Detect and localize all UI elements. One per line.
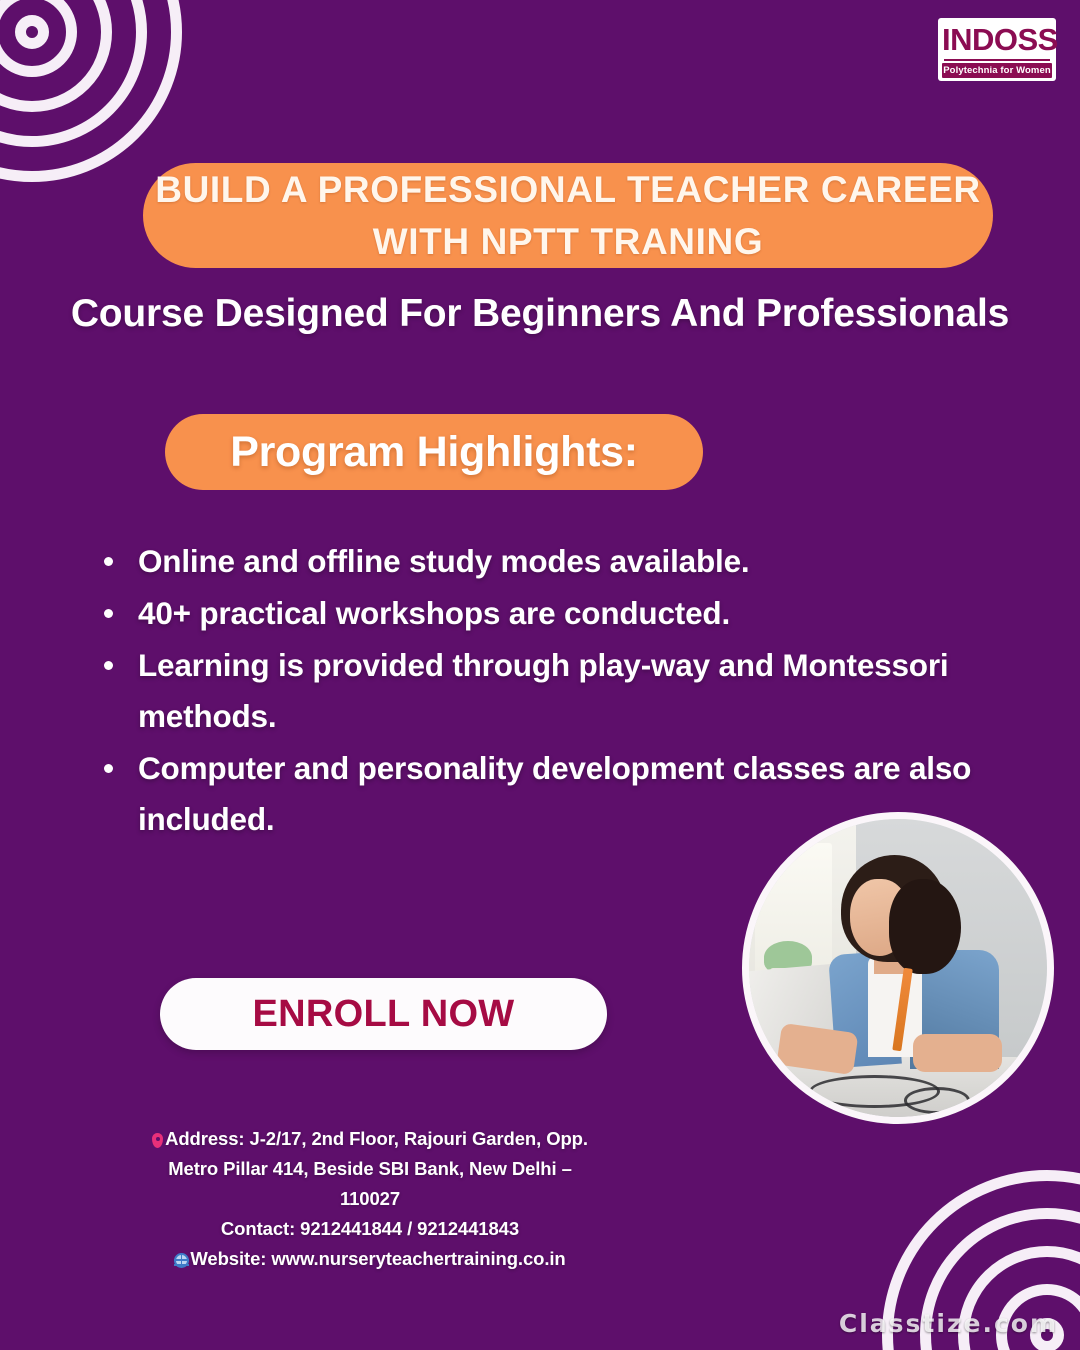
enroll-now-label: ENROLL NOW — [253, 993, 515, 1036]
headline-text: BUILD A PROFESSIONAL TEACHER CAREER WITH… — [155, 164, 980, 268]
logo-tagline: Polytechnia for Women — [942, 63, 1052, 78]
contact-footer: Address: J-2/17, 2nd Floor, Rajouri Gard… — [90, 1124, 650, 1274]
concentric-rings-top-left-icon — [0, 0, 182, 182]
brand-logo: INDOSS Polytechnia for Women — [938, 18, 1056, 81]
location-pin-icon — [152, 1133, 163, 1148]
headline-banner: BUILD A PROFESSIONAL TEACHER CAREER WITH… — [143, 163, 993, 268]
subtitle-text: Course Designed For Beginners And Profes… — [0, 292, 1080, 336]
globe-icon — [174, 1253, 189, 1268]
address-line-2: Metro Pillar 414, Beside SBI Bank, New D… — [90, 1154, 650, 1184]
logo-wordmark: INDOSS — [942, 22, 1052, 58]
photo-illustration — [749, 819, 1047, 1117]
enroll-now-button[interactable]: ENROLL NOW — [160, 978, 607, 1050]
list-item: Online and offline study modes available… — [96, 536, 1056, 587]
student-photo — [742, 812, 1054, 1124]
logo-divider — [944, 59, 1050, 61]
program-highlights-banner: Program Highlights: — [165, 414, 703, 490]
list-item: 40+ practical workshops are conducted. — [96, 588, 1056, 639]
website-url: Website: www.nurseryteachertraining.co.i… — [190, 1248, 565, 1269]
contact-phone[interactable]: Contact: 9212441844 / 9212441843 — [90, 1214, 650, 1244]
highlights-list: Online and offline study modes available… — [96, 536, 1056, 846]
address-postal-code: 110027 — [90, 1184, 650, 1214]
poster-canvas: INDOSS Polytechnia for Women BUILD A PRO… — [0, 0, 1080, 1350]
watermark: Classtize.com — [839, 1309, 1058, 1338]
program-highlights-heading: Program Highlights: — [230, 428, 638, 477]
website-row[interactable]: Website: www.nurseryteachertraining.co.i… — [90, 1244, 650, 1274]
list-item: Learning is provided through play-way an… — [96, 640, 1056, 742]
address-line-1-row: Address: J-2/17, 2nd Floor, Rajouri Gard… — [90, 1124, 650, 1154]
address-line-1: Address: J-2/17, 2nd Floor, Rajouri Gard… — [165, 1128, 588, 1149]
